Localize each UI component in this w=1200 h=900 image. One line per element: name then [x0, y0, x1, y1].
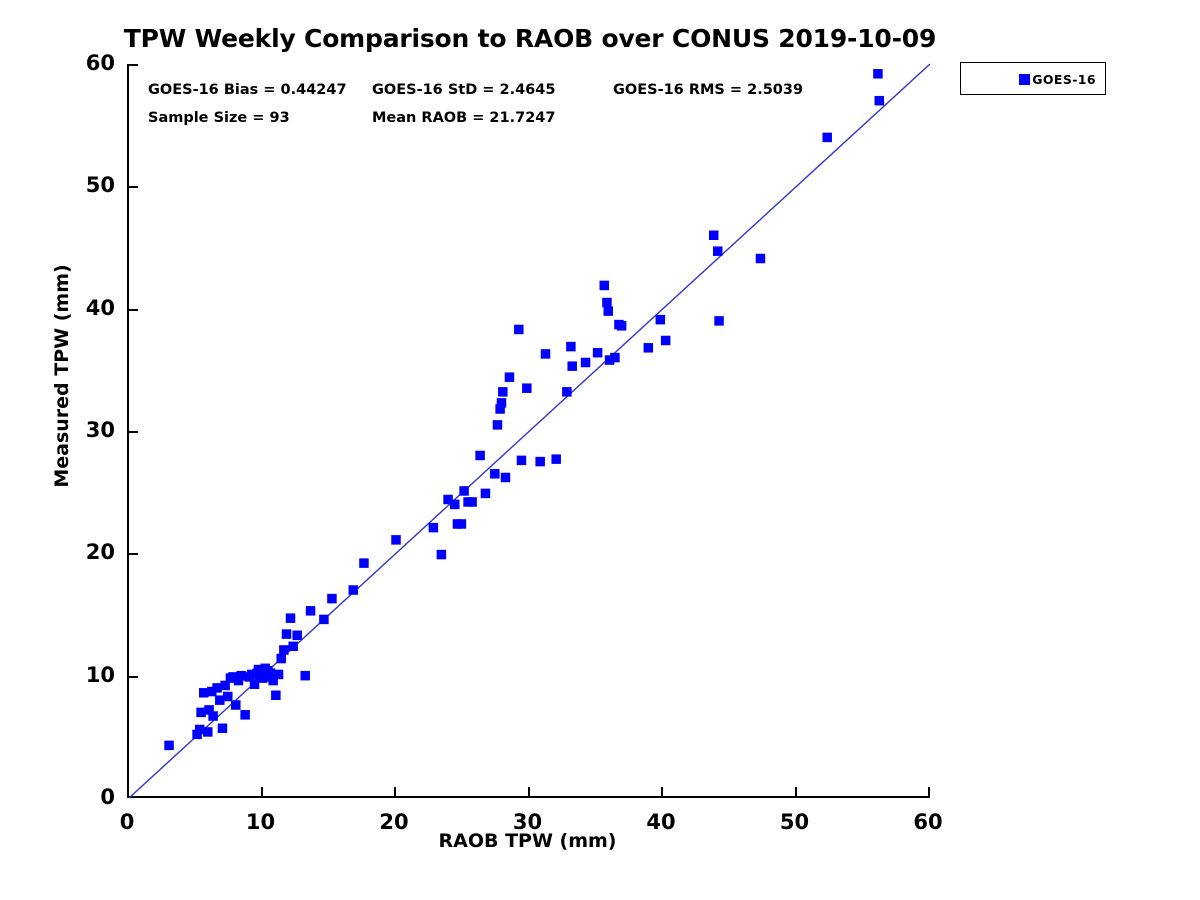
legend-marker-goes-16 [1019, 74, 1030, 85]
scatter-point [203, 727, 213, 737]
scatter-point [490, 469, 500, 479]
scatter-point [481, 489, 491, 499]
y-tick-mark [127, 553, 138, 555]
legend-label-goes-16: GOES-16 [1032, 72, 1096, 87]
x-tick-mark [928, 787, 930, 798]
scatter-point [459, 486, 469, 496]
scatter-point [391, 535, 401, 545]
x-axis-title: RAOB TPW (mm) [127, 830, 928, 852]
scatter-point [709, 231, 719, 241]
y-axis-title: Measured TPW (mm) [51, 236, 73, 516]
scatter-point [457, 519, 467, 529]
scatter-point [551, 454, 561, 464]
scatter-point [271, 690, 281, 700]
scatter-point [656, 315, 666, 325]
scatter-point [517, 456, 527, 466]
legend: GOES-16 [960, 62, 1106, 95]
one-to-one-line [129, 64, 930, 798]
scatter-point [279, 645, 289, 655]
stat-sample-size: Sample Size = 93 [148, 110, 290, 126]
scatter-point [602, 298, 612, 308]
reference-line [129, 64, 930, 798]
scatter-point [231, 700, 241, 710]
x-tick-mark [261, 787, 263, 798]
scatter-point [306, 606, 316, 616]
scatter-point [349, 585, 359, 595]
scatter-point [274, 670, 284, 680]
scatter-point [319, 615, 329, 625]
y-tick-label: 20 [61, 542, 115, 563]
x-tick-mark [661, 787, 663, 798]
scatter-point [288, 642, 298, 652]
y-tick-label: 10 [61, 665, 115, 686]
scatter-point [218, 724, 228, 734]
y-tick-mark [127, 64, 138, 66]
scatter-point [505, 372, 514, 382]
scatter-point [600, 281, 610, 291]
scatter-point [437, 550, 447, 560]
y-tick-label: 60 [61, 53, 115, 74]
scatter-point [875, 96, 885, 106]
scatter-point [541, 349, 551, 359]
scatter-point [498, 387, 508, 397]
y-tick-mark [127, 309, 138, 311]
scatter-point [429, 523, 439, 533]
y-tick-label: 50 [61, 175, 115, 196]
y-tick-mark [127, 431, 138, 433]
scatter-point [276, 654, 286, 664]
scatter-point [286, 613, 296, 623]
scatter-point [450, 500, 460, 510]
scatter-point [475, 451, 485, 461]
y-tick-mark [127, 676, 138, 678]
chart-figure: TPW Weekly Comparison to RAOB over CONUS… [0, 0, 1200, 900]
scatter-point [208, 711, 218, 721]
scatter-point [164, 741, 174, 751]
scatter-point [535, 457, 545, 467]
scatter-point [493, 420, 503, 430]
scatter-point [873, 69, 883, 79]
scatter-point [617, 321, 627, 331]
stat-rms: GOES-16 RMS = 2.5039 [613, 82, 803, 98]
scatter-point [567, 361, 577, 371]
x-tick-mark [394, 787, 396, 798]
scatter-point [604, 306, 614, 316]
scatter-point [522, 383, 532, 393]
scatter-point [514, 325, 524, 335]
scatter-markers [164, 69, 884, 750]
plot-canvas [129, 64, 930, 798]
x-tick-mark [528, 787, 530, 798]
scatter-point [223, 692, 233, 702]
stat-bias: GOES-16 Bias = 0.44247 [148, 82, 347, 98]
scatter-point [593, 348, 603, 358]
scatter-point [359, 558, 369, 568]
scatter-point [467, 497, 477, 507]
scatter-point [292, 631, 302, 641]
y-tick-mark [127, 186, 138, 188]
page-title: TPW Weekly Comparison to RAOB over CONUS… [0, 24, 1060, 53]
scatter-point [822, 133, 832, 143]
scatter-point [661, 336, 671, 346]
scatter-point [282, 629, 292, 639]
scatter-point [756, 254, 766, 264]
scatter-point [497, 398, 507, 408]
stat-mean-raob: Mean RAOB = 21.7247 [372, 110, 555, 126]
y-tick-label: 0 [61, 787, 115, 808]
plot-area [127, 64, 928, 798]
scatter-point [566, 342, 576, 352]
scatter-point [610, 353, 620, 363]
scatter-point [240, 710, 250, 720]
scatter-point [581, 358, 591, 368]
scatter-point [713, 246, 723, 256]
scatter-point [562, 387, 572, 397]
stat-std: GOES-16 StD = 2.4645 [372, 82, 555, 98]
scatter-point [644, 343, 654, 353]
scatter-point [300, 671, 310, 681]
scatter-point [327, 594, 337, 604]
scatter-point [714, 316, 724, 326]
scatter-point [501, 473, 511, 483]
x-tick-mark [795, 787, 797, 798]
